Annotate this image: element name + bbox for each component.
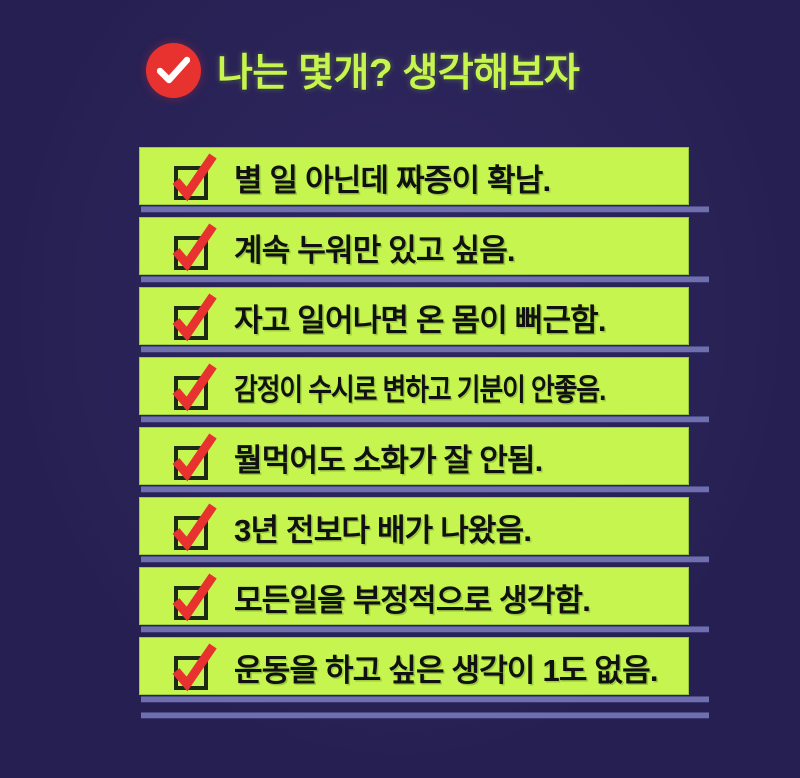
row-divider — [141, 416, 709, 423]
checklist-item[interactable]: 별 일 아닌데 짜증이 확남. — [139, 147, 689, 211]
red-checkmark-icon — [168, 434, 216, 482]
row-divider — [141, 276, 709, 283]
checklist-item-bar[interactable]: 별 일 아닌데 짜증이 확남. — [139, 147, 689, 205]
footer-divider — [141, 712, 709, 719]
checklist-item-bar[interactable]: 감정이 수시로 변하고 기분이 안좋음. — [139, 357, 689, 415]
row-divider — [141, 626, 709, 633]
checklist-item-bar[interactable]: 자고 일어나면 온 몸이 뻐근함. — [139, 287, 689, 345]
checklist: 별 일 아닌데 짜증이 확남.계속 누워만 있고 싶음.자고 일어나면 온 몸이… — [139, 147, 689, 707]
page-header: 나는 몇개? 생각해보자 — [146, 42, 579, 98]
checkbox[interactable] — [168, 294, 216, 342]
checkbox[interactable] — [168, 434, 216, 482]
checklist-item[interactable]: 감정이 수시로 변하고 기분이 안좋음. — [139, 357, 689, 421]
checklist-item-label: 자고 일어나면 온 몸이 뻐근함. — [234, 288, 606, 346]
checklist-item[interactable]: 3년 전보다 배가 나왔음. — [139, 497, 689, 561]
red-checkmark-icon — [168, 644, 216, 692]
row-divider — [141, 696, 709, 703]
checklist-item-bar[interactable]: 뭘먹어도 소화가 잘 안됨. — [139, 427, 689, 485]
red-checkmark-icon — [168, 504, 216, 552]
checklist-item-bar[interactable]: 계속 누워만 있고 싶음. — [139, 217, 689, 275]
checkbox[interactable] — [168, 364, 216, 412]
red-checkmark-icon — [168, 364, 216, 412]
row-divider — [141, 556, 709, 563]
checklist-item-label: 감정이 수시로 변하고 기분이 안좋음. — [234, 358, 605, 416]
checklist-item-bar[interactable]: 운동을 하고 싶은 생각이 1도 없음. — [139, 637, 689, 695]
checklist-item[interactable]: 모든일을 부정적으로 생각함. — [139, 567, 689, 631]
checklist-item-bar[interactable]: 모든일을 부정적으로 생각함. — [139, 567, 689, 625]
row-divider — [141, 346, 709, 353]
checkbox[interactable] — [168, 224, 216, 272]
checklist-item[interactable]: 운동을 하고 싶은 생각이 1도 없음. — [139, 637, 689, 701]
red-checkmark-icon — [168, 154, 216, 202]
red-checkmark-icon — [168, 224, 216, 272]
checklist-item[interactable]: 뭘먹어도 소화가 잘 안됨. — [139, 427, 689, 491]
red-checkmark-icon — [168, 574, 216, 622]
checklist-infographic: 나는 몇개? 생각해보자 별 일 아닌데 짜증이 확남.계속 누워만 있고 싶음… — [0, 0, 800, 778]
row-divider — [141, 486, 709, 493]
checkbox[interactable] — [168, 504, 216, 552]
checklist-item-label: 운동을 하고 싶은 생각이 1도 없음. — [234, 638, 658, 696]
checkbox[interactable] — [168, 154, 216, 202]
checklist-item-label: 별 일 아닌데 짜증이 확남. — [234, 148, 550, 206]
checklist-item-label: 모든일을 부정적으로 생각함. — [234, 568, 590, 626]
red-checkmark-icon — [168, 294, 216, 342]
checkbox[interactable] — [168, 644, 216, 692]
page-title: 나는 몇개? 생각해보자 — [217, 42, 579, 98]
row-divider — [141, 206, 709, 213]
checklist-item[interactable]: 계속 누워만 있고 싶음. — [139, 217, 689, 281]
checklist-item-label: 계속 누워만 있고 싶음. — [234, 218, 515, 276]
checklist-item-bar[interactable]: 3년 전보다 배가 나왔음. — [139, 497, 689, 555]
checklist-item-label: 뭘먹어도 소화가 잘 안됨. — [234, 428, 542, 486]
checkbox[interactable] — [168, 574, 216, 622]
check-circle-icon — [146, 43, 201, 98]
checklist-item-label: 3년 전보다 배가 나왔음. — [234, 498, 531, 556]
checklist-item[interactable]: 자고 일어나면 온 몸이 뻐근함. — [139, 287, 689, 351]
